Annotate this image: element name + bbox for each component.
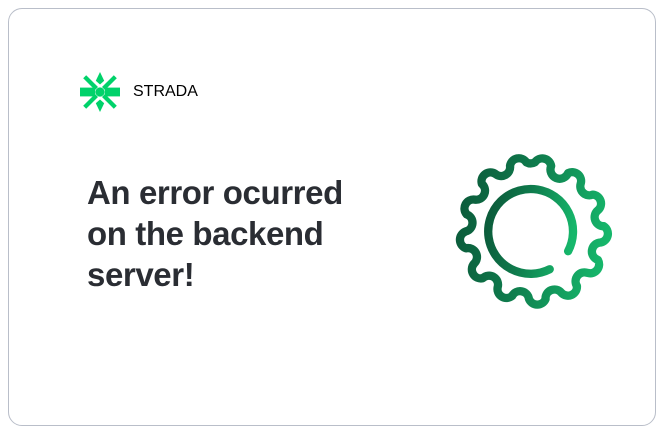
brand-wordmark: STRADA — [133, 83, 198, 101]
error-card: STRADA An error ocurred on the backend s… — [8, 8, 656, 426]
gear-cog-icon — [455, 151, 615, 311]
error-message-text: An error ocurred on the backend server! — [87, 172, 387, 295]
asterisk-star-icon — [79, 71, 121, 113]
brand-logo: STRADA — [79, 71, 198, 113]
